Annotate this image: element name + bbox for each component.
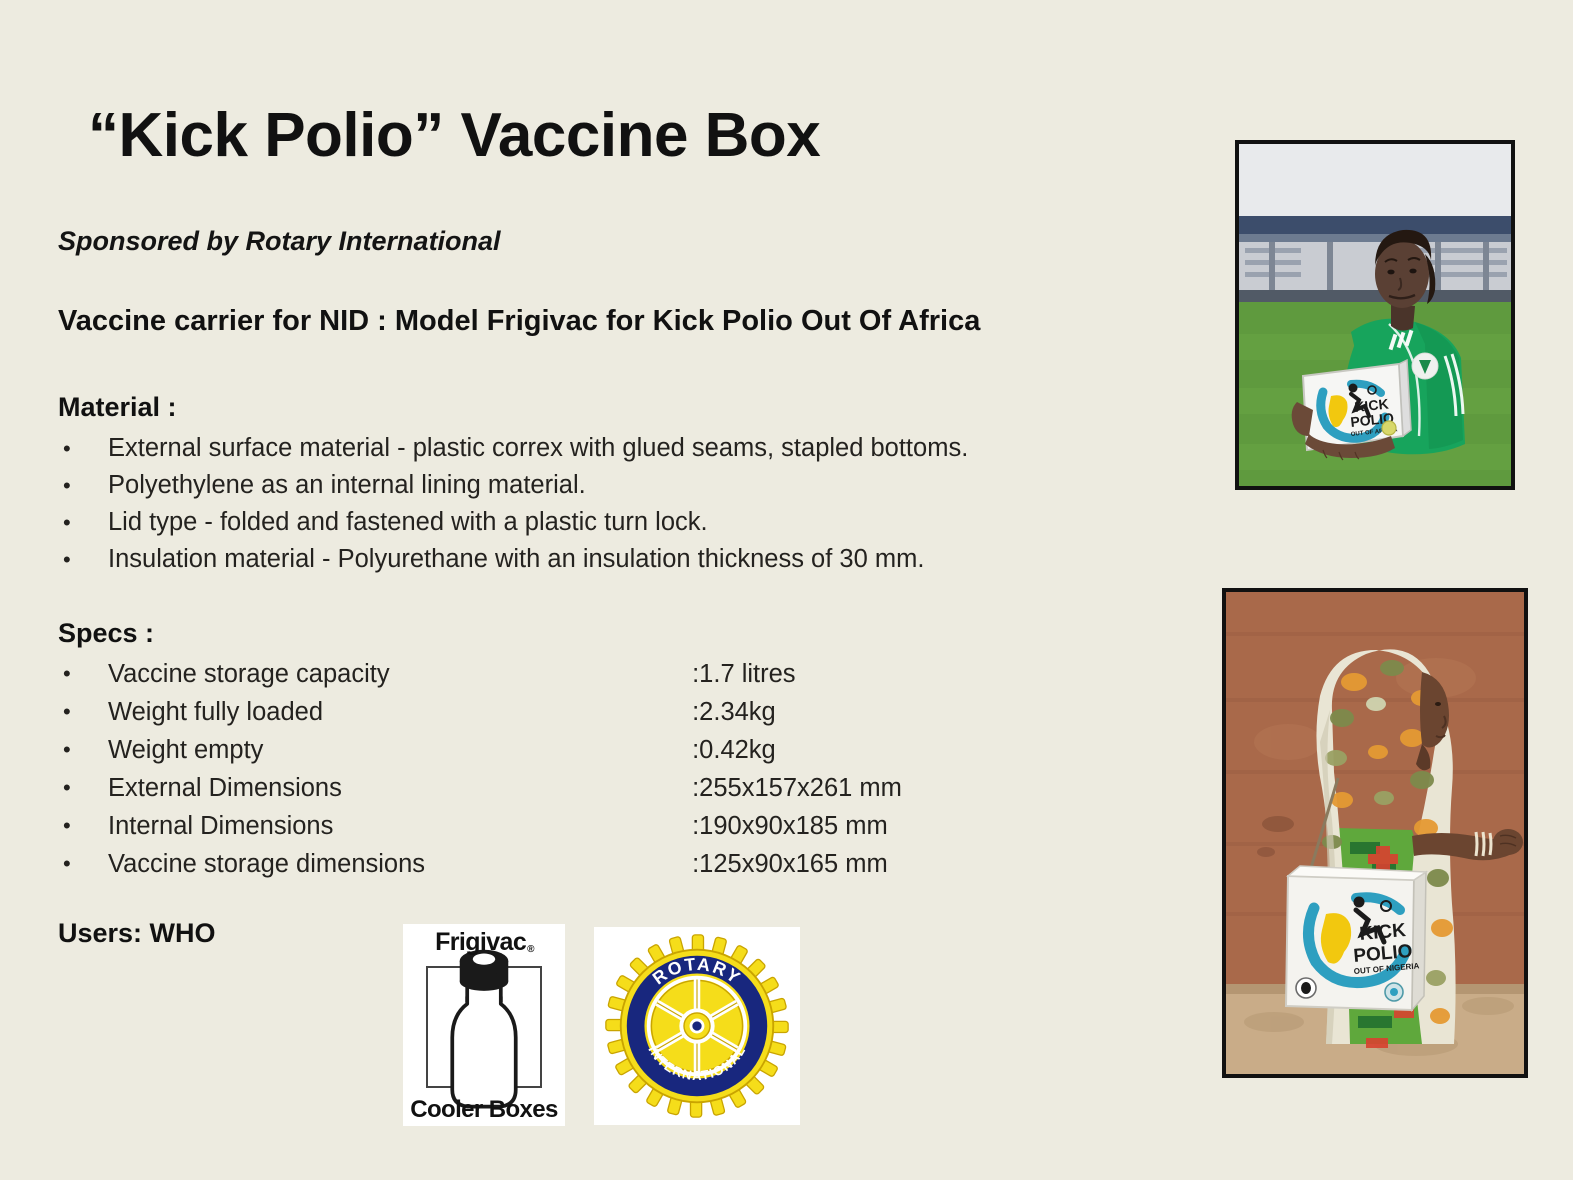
spec-label: Vaccine storage dimensions — [108, 845, 685, 883]
material-bullet-text: External surface material - plastic corr… — [108, 430, 968, 467]
list-item: • External Dimensions :255x157x261 mm — [58, 769, 902, 807]
vaccine-vial-icon — [428, 933, 540, 1120]
product-headline: Vaccine carrier for NID : Model Frigivac… — [58, 305, 980, 338]
frigivac-tagline: Cooler Boxes — [410, 1098, 558, 1122]
registered-mark-icon: ® — [527, 944, 534, 955]
spec-value: :1.7 litres — [692, 655, 795, 693]
bullet-icon: • — [63, 731, 71, 768]
spec-value: :190x90x185 mm — [692, 807, 888, 845]
spec-label: Vaccine storage capacity — [108, 655, 685, 693]
bullet-icon: • — [63, 430, 71, 467]
rotary-gear-wheel-icon: ROTARY INTERNATIONAL — [604, 933, 790, 1119]
list-item: • Internal Dimensions :190x90x185 mm — [58, 807, 902, 845]
bullet-icon: • — [63, 467, 71, 504]
list-item: • Vaccine storage dimensions :125x90x165… — [58, 845, 902, 883]
spec-label: Weight fully loaded — [108, 693, 685, 731]
bullet-icon: • — [63, 769, 71, 806]
specs-list: • Vaccine storage capacity :1.7 litres •… — [58, 655, 902, 883]
specs-heading: Specs : — [58, 618, 154, 649]
bullet-icon: • — [63, 693, 71, 730]
health-worker-photo-graphic: KICK POLIO OUT OF NIGERIA — [1226, 592, 1524, 1074]
list-item: • Insulation material - Polyurethane wit… — [58, 541, 968, 578]
content-column: “Kick Polio” Vaccine Box Sponsored by Ro… — [0, 0, 1210, 1180]
photo-health-worker-carrying-vaccine-carrier: KICK POLIO OUT OF NIGERIA — [1222, 588, 1528, 1078]
slide-canvas: “Kick Polio” Vaccine Box Sponsored by Ro… — [0, 0, 1573, 1180]
spec-value: :125x90x165 mm — [692, 845, 888, 883]
rotary-international-logo: ROTARY INTERNATIONAL — [594, 927, 800, 1125]
photo-footballer-holding-vaccine-box: KICK POLIO OUT OF AFRICA — [1235, 140, 1515, 490]
page-title: “Kick Polio” Vaccine Box — [88, 100, 820, 171]
frigivac-brand-label: Frigivac — [435, 928, 526, 956]
spec-value: :2.34kg — [692, 693, 776, 731]
list-item: • Polyethylene as an internal lining mat… — [58, 467, 968, 504]
list-item: • Weight fully loaded :2.34kg — [58, 693, 902, 731]
bullet-icon: • — [63, 807, 71, 844]
list-item: • Lid type - folded and fastened with a … — [58, 504, 968, 541]
sponsor-subtitle: Sponsored by Rotary International — [58, 226, 501, 257]
bullet-icon: • — [63, 541, 71, 578]
spec-value: :255x157x261 mm — [692, 769, 902, 807]
footballer-photo-graphic: KICK POLIO OUT OF AFRICA — [1239, 144, 1511, 486]
vial-frame — [426, 966, 542, 1088]
users-line: Users: WHO — [58, 918, 216, 949]
spec-label: External Dimensions — [108, 769, 685, 807]
frigivac-logo: Frigivac® Cooler Boxes — [403, 924, 565, 1126]
list-item: • External surface material - plastic co… — [58, 430, 968, 467]
spec-label: Weight empty — [108, 731, 685, 769]
bullet-icon: • — [63, 504, 71, 541]
bullet-icon: • — [63, 845, 71, 882]
material-bullet-text: Polyethylene as an internal lining mater… — [108, 467, 586, 504]
spec-value: :0.42kg — [692, 731, 776, 769]
material-bullet-list: • External surface material - plastic co… — [58, 430, 968, 578]
list-item: • Vaccine storage capacity :1.7 litres — [58, 655, 902, 693]
frigivac-brand-text: Frigivac® — [435, 930, 533, 955]
bullet-icon: • — [63, 655, 71, 692]
spec-label: Internal Dimensions — [108, 807, 685, 845]
material-bullet-text: Lid type - folded and fastened with a pl… — [108, 504, 708, 541]
list-item: • Weight empty :0.42kg — [58, 731, 902, 769]
material-bullet-text: Insulation material - Polyurethane with … — [108, 541, 924, 578]
material-heading: Material : — [58, 392, 177, 423]
